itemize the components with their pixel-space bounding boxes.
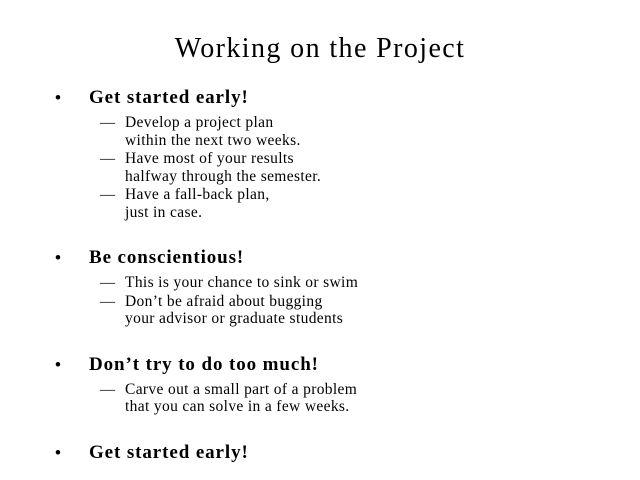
bullet-level2-line: Have most of your results xyxy=(125,150,595,168)
bullet-dash-icon: — xyxy=(100,381,118,399)
bullet-group: •Get started early!—Develop a project pl… xyxy=(0,86,640,222)
bullet-level2-text: Carve out a small part of a problemthat … xyxy=(125,381,595,416)
bullet-level2: —Don’t be afraid about buggingyour advis… xyxy=(0,293,640,329)
bullet-level2: —Have a fall-back plan,just in case. xyxy=(0,186,640,222)
presentation-slide: Working on the Project •Get started earl… xyxy=(0,0,640,480)
bullet-level2: —Carve out a small part of a problemthat… xyxy=(0,381,640,417)
bullet-level2-line: This is your chance to sink or swim xyxy=(125,274,595,292)
bullet-level2-text: Have most of your resultshalfway through… xyxy=(125,150,595,185)
bullet-dash-icon: — xyxy=(100,114,118,132)
bullet-dash-icon: — xyxy=(100,274,118,292)
bullet-dot-icon: • xyxy=(55,353,71,377)
bullet-level2-line: Develop a project plan xyxy=(125,114,595,132)
bullet-level2-text: Develop a project planwithin the next tw… xyxy=(125,114,595,149)
bullet-group: •Be conscientious!—This is your chance t… xyxy=(0,246,640,329)
bullet-level2-line: halfway through the semester. xyxy=(125,168,595,186)
bullet-level2-line: just in case. xyxy=(125,204,595,222)
spacer xyxy=(0,417,640,441)
bullet-level1: •Get started early! xyxy=(0,441,640,465)
bullet-level1-label: Get started early! xyxy=(89,86,249,110)
slide-body-bullet-list: •Get started early!—Develop a project pl… xyxy=(0,86,640,465)
bullet-level2: —Have most of your resultshalfway throug… xyxy=(0,150,640,186)
bullet-dot-icon: • xyxy=(55,441,71,465)
bullet-level1-label: Be conscientious! xyxy=(89,246,244,270)
bullet-level1: •Get started early! xyxy=(0,86,640,110)
bullet-group: •Get started early! xyxy=(0,441,640,465)
bullet-level2: —This is your chance to sink or swim xyxy=(0,274,640,293)
bullet-group: •Don’t try to do too much!—Carve out a s… xyxy=(0,353,640,417)
bullet-level2-line: Have a fall-back plan, xyxy=(125,186,595,204)
spacer xyxy=(0,329,640,353)
bullet-level2-text: This is your chance to sink or swim xyxy=(125,274,595,292)
bullet-dash-icon: — xyxy=(100,150,118,168)
bullet-dot-icon: • xyxy=(55,86,71,110)
bullet-level2-line: your advisor or graduate students xyxy=(125,310,595,328)
spacer xyxy=(0,222,640,246)
bullet-level1-label: Don’t try to do too much! xyxy=(89,353,319,377)
bullet-dash-icon: — xyxy=(100,186,118,204)
bullet-level2: —Develop a project planwithin the next t… xyxy=(0,114,640,150)
bullet-level2-line: within the next two weeks. xyxy=(125,132,595,150)
bullet-level2-line: Don’t be afraid about bugging xyxy=(125,293,595,311)
bullet-level2-line: Carve out a small part of a problem xyxy=(125,381,595,399)
bullet-level2-text: Have a fall-back plan,just in case. xyxy=(125,186,595,221)
bullet-level2-line: that you can solve in a few weeks. xyxy=(125,398,595,416)
bullet-level1: •Be conscientious! xyxy=(0,246,640,270)
slide-title: Working on the Project xyxy=(0,33,640,65)
bullet-dash-icon: — xyxy=(100,293,118,311)
bullet-level1: •Don’t try to do too much! xyxy=(0,353,640,377)
bullet-dot-icon: • xyxy=(55,246,71,270)
bullet-level2-text: Don’t be afraid about buggingyour adviso… xyxy=(125,293,595,328)
bullet-level1-label: Get started early! xyxy=(89,441,249,465)
